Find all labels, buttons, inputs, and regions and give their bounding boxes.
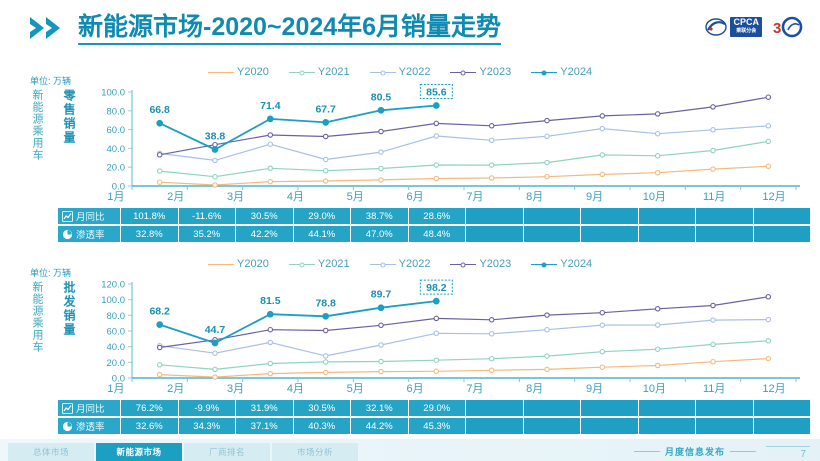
series-marker-y2021 bbox=[766, 339, 770, 343]
series-marker-y2022 bbox=[766, 317, 770, 321]
page-footer: 总体市场新能源市场厂商排名市场分析 月度信息发布 7 bbox=[0, 439, 820, 461]
series-marker-y2022 bbox=[600, 323, 604, 327]
series-marker-y2023 bbox=[379, 323, 383, 327]
table-cell bbox=[638, 208, 696, 224]
series-marker-y2022 bbox=[324, 157, 328, 161]
series-marker-y2022 bbox=[379, 343, 383, 347]
data-label-y2024: 98.2 bbox=[426, 282, 447, 294]
series-marker-y2020 bbox=[213, 375, 217, 379]
series-marker-y2020 bbox=[268, 179, 272, 183]
series-marker-y2020 bbox=[268, 371, 272, 375]
series-marker-y2021 bbox=[711, 342, 715, 346]
cpca-mark-icon bbox=[705, 17, 727, 37]
series-marker-y2022 bbox=[656, 323, 660, 327]
series-marker-y2022 bbox=[545, 134, 549, 138]
series-marker-y2020 bbox=[711, 167, 715, 171]
series-marker-y2024 bbox=[157, 120, 163, 126]
legend-retail: Y2020Y2021Y2022Y2023Y2024 bbox=[208, 66, 592, 78]
table-cell: 34.3% bbox=[178, 418, 236, 434]
series-line-y2023 bbox=[160, 297, 769, 348]
series-line-y2023 bbox=[160, 97, 769, 155]
series-marker-y2021 bbox=[434, 163, 438, 167]
table-cell bbox=[465, 226, 523, 242]
table-cell bbox=[753, 418, 811, 434]
legend-swatch-icon bbox=[289, 72, 315, 73]
series-marker-y2023 bbox=[268, 328, 272, 332]
series-marker-y2020 bbox=[711, 360, 715, 364]
series-marker-y2021 bbox=[379, 359, 383, 363]
cpca-abbr: CPCA bbox=[733, 17, 759, 27]
row-label: 渗透率 bbox=[58, 418, 120, 434]
series-marker-y2023 bbox=[600, 114, 604, 118]
series-marker-y2022 bbox=[213, 351, 217, 355]
series-marker-y2020 bbox=[545, 367, 549, 371]
series-marker-y2020 bbox=[379, 369, 383, 373]
row-label: 月同比 bbox=[58, 400, 120, 416]
table-cell bbox=[523, 418, 581, 434]
table-cell: 30.5% bbox=[293, 400, 351, 416]
series-marker-y2024 bbox=[378, 108, 384, 114]
table-cell bbox=[580, 208, 638, 224]
legend-swatch-icon bbox=[289, 264, 315, 265]
series-marker-y2022 bbox=[656, 132, 660, 136]
x-tick-label: 9月 bbox=[565, 188, 625, 204]
series-marker-y2021 bbox=[600, 350, 604, 354]
series-marker-y2023 bbox=[490, 318, 494, 322]
series-marker-y2021 bbox=[213, 175, 217, 179]
x-tick-label: 1月 bbox=[86, 188, 146, 204]
series-marker-y2022 bbox=[490, 332, 494, 336]
series-marker-y2021 bbox=[656, 347, 660, 351]
series-marker-y2020 bbox=[324, 179, 328, 183]
x-tick-label: 7月 bbox=[445, 188, 505, 204]
double-chevron-right-icon bbox=[28, 15, 72, 41]
series-marker-y2020 bbox=[656, 171, 660, 175]
series-marker-y2020 bbox=[600, 172, 604, 176]
trend-chart-icon bbox=[62, 403, 73, 414]
footer-tab-1[interactable]: 新能源市场 bbox=[96, 443, 182, 461]
x-tick-label: 2月 bbox=[146, 188, 206, 204]
series-line-y2021 bbox=[160, 341, 769, 370]
legend-item-y2020[interactable]: Y2020 bbox=[208, 258, 269, 270]
series-marker-y2024 bbox=[323, 314, 329, 320]
footer-tabs[interactable]: 总体市场新能源市场厂商排名市场分析 bbox=[8, 443, 360, 461]
series-marker-y2023 bbox=[490, 124, 494, 128]
table-cell: -11.6% bbox=[178, 208, 236, 224]
legend-marker-icon bbox=[299, 262, 304, 267]
data-label-y2024: 67.7 bbox=[315, 103, 336, 115]
series-marker-y2023 bbox=[324, 134, 328, 138]
x-tick-label: 3月 bbox=[206, 380, 266, 396]
series-marker-y2020 bbox=[490, 176, 494, 180]
series-marker-y2023 bbox=[545, 118, 549, 122]
table-cell: -9.9% bbox=[178, 400, 236, 416]
row-label-text: 渗透率 bbox=[76, 227, 105, 241]
series-marker-y2023 bbox=[268, 133, 272, 137]
series-marker-y2023 bbox=[434, 316, 438, 320]
top-category-label: 新能源乘用车 bbox=[30, 89, 43, 161]
table-cell: 32.1% bbox=[350, 400, 408, 416]
table-cell bbox=[695, 226, 753, 242]
table-cell: 28.6% bbox=[408, 208, 466, 224]
series-marker-y2020 bbox=[545, 175, 549, 179]
series-marker-y2024 bbox=[212, 340, 218, 346]
title-underline bbox=[78, 43, 501, 45]
series-marker-y2024 bbox=[268, 311, 274, 317]
x-tick-label: 10月 bbox=[624, 188, 684, 204]
footer-divider bbox=[766, 446, 810, 447]
table-row: 月同比76.2%-9.9%31.9%30.5%32.1%29.0% bbox=[58, 400, 810, 416]
svg-text:120.0: 120.0 bbox=[101, 280, 125, 291]
table-cell bbox=[753, 208, 811, 224]
footer-tab-3[interactable]: 市场分析 bbox=[272, 443, 358, 461]
table-cell: 35.2% bbox=[178, 226, 236, 242]
series-marker-y2022 bbox=[545, 328, 549, 332]
footer-tab-0[interactable]: 总体市场 bbox=[8, 443, 94, 461]
legend-swatch-icon bbox=[208, 264, 234, 265]
svg-text:40.0: 40.0 bbox=[107, 342, 126, 353]
x-tick-label: 4月 bbox=[265, 380, 325, 396]
page-number: 7 bbox=[800, 449, 806, 460]
trend-chart-icon bbox=[62, 211, 73, 222]
table-cell: 32.8% bbox=[120, 226, 178, 242]
table-row: 月同比101.8%-11.6%30.5%29.0%38.7%28.6% bbox=[58, 208, 810, 224]
series-marker-y2024 bbox=[378, 305, 384, 311]
x-tick-label: 2月 bbox=[146, 380, 206, 396]
table-cell: 30.5% bbox=[235, 208, 293, 224]
data-label-y2024: 78.8 bbox=[315, 297, 336, 309]
series-marker-y2021 bbox=[766, 139, 770, 143]
table-cell bbox=[580, 400, 638, 416]
legend-swatch-icon bbox=[531, 72, 557, 73]
series-line-y2022 bbox=[160, 126, 769, 161]
legend-marker-icon bbox=[461, 262, 466, 267]
series-marker-y2021 bbox=[711, 148, 715, 152]
table-cell: 44.1% bbox=[293, 226, 351, 242]
x-tick-label: 6月 bbox=[385, 380, 445, 396]
series-marker-y2021 bbox=[490, 163, 494, 167]
legend-item-y2022[interactable]: Y2022 bbox=[370, 258, 431, 270]
anniversary-logo: 3 bbox=[770, 16, 808, 38]
x-tick-label: 5月 bbox=[325, 380, 385, 396]
legend-swatch-icon bbox=[450, 264, 476, 265]
bottom-metric-label: 批发销量 bbox=[62, 281, 75, 337]
data-label-y2024: 81.5 bbox=[260, 295, 281, 307]
svg-text:100.0: 100.0 bbox=[101, 88, 125, 99]
series-marker-y2024 bbox=[268, 116, 274, 122]
legend-item-y2023[interactable]: Y2023 bbox=[450, 66, 511, 78]
svg-text:100.0: 100.0 bbox=[101, 295, 125, 306]
data-label-y2024: 85.6 bbox=[426, 87, 447, 99]
pie-chart-icon bbox=[62, 229, 73, 240]
table-cell: 42.2% bbox=[235, 226, 293, 242]
table-cell: 31.9% bbox=[235, 400, 293, 416]
series-marker-y2022 bbox=[490, 138, 494, 142]
series-marker-y2020 bbox=[324, 370, 328, 374]
legend-wholesale: Y2020Y2021Y2022Y2023Y2024 bbox=[208, 258, 592, 270]
series-line-y2024 bbox=[160, 301, 437, 343]
row-label-text: 月同比 bbox=[76, 209, 105, 223]
series-marker-y2024 bbox=[212, 147, 218, 153]
bottom-unit-label: 单位: 万辆 bbox=[30, 266, 71, 279]
table-cell: 47.0% bbox=[350, 226, 408, 242]
footer-tab-2[interactable]: 厂商排名 bbox=[184, 443, 270, 461]
table-cell bbox=[638, 400, 696, 416]
wholesale-sales-panel: 单位: 万辆 新能源乘用车 批发销量 Y2020Y2021Y2022Y2023Y… bbox=[0, 252, 820, 442]
series-marker-y2023 bbox=[711, 303, 715, 307]
table-cell: 101.8% bbox=[120, 208, 178, 224]
svg-text:60.0: 60.0 bbox=[107, 125, 126, 136]
x-tick-label: 8月 bbox=[505, 380, 565, 396]
series-marker-y2023 bbox=[600, 311, 604, 315]
data-label-y2024: 89.7 bbox=[371, 289, 392, 301]
legend-item-y2021[interactable]: Y2021 bbox=[289, 258, 350, 270]
svg-text:80.0: 80.0 bbox=[107, 106, 126, 117]
data-label-y2024: 44.7 bbox=[205, 324, 226, 336]
svg-text:80.0: 80.0 bbox=[107, 311, 126, 322]
legend-swatch-icon bbox=[370, 264, 396, 265]
x-tick-label: 6月 bbox=[385, 188, 445, 204]
table-cell bbox=[753, 226, 811, 242]
series-marker-y2023 bbox=[766, 95, 770, 99]
x-tick-label: 5月 bbox=[325, 188, 385, 204]
series-marker-y2021 bbox=[158, 363, 162, 367]
data-label-y2024: 71.4 bbox=[260, 100, 281, 112]
series-marker-y2022 bbox=[600, 126, 604, 130]
series-marker-y2022 bbox=[434, 331, 438, 335]
legend-label: Y2023 bbox=[479, 66, 511, 78]
x-tick-label: 3月 bbox=[206, 188, 266, 204]
series-marker-y2020 bbox=[434, 369, 438, 373]
series-marker-y2023 bbox=[711, 105, 715, 109]
series-marker-y2021 bbox=[158, 169, 162, 173]
row-label: 渗透率 bbox=[58, 226, 120, 242]
table-cell bbox=[695, 418, 753, 434]
series-marker-y2021 bbox=[600, 153, 604, 157]
table-cell: 44.2% bbox=[350, 418, 408, 434]
cpca-chinese: 乘联分会 bbox=[733, 27, 759, 36]
series-marker-y2022 bbox=[711, 318, 715, 322]
series-marker-y2022 bbox=[268, 142, 272, 146]
table-row: 渗透率32.8%35.2%42.2%44.1%47.0%48.4% bbox=[58, 226, 810, 242]
retail-x-axis-labels: 1月2月3月4月5月6月7月8月9月10月11月12月 bbox=[86, 188, 804, 204]
legend-marker-icon bbox=[542, 70, 547, 75]
series-marker-y2024 bbox=[434, 103, 440, 109]
legend-marker-icon bbox=[542, 262, 547, 267]
bottom-category-label: 新能源乘用车 bbox=[30, 281, 43, 353]
legend-swatch-icon bbox=[370, 72, 396, 73]
legend-swatch-icon bbox=[531, 264, 557, 265]
series-marker-y2020 bbox=[213, 183, 217, 187]
table-cell bbox=[753, 400, 811, 416]
table-cell bbox=[465, 208, 523, 224]
x-tick-label: 9月 bbox=[565, 380, 625, 396]
series-marker-y2022 bbox=[268, 340, 272, 344]
wholesale-data-table: 月同比76.2%-9.9%31.9%30.5%32.1%29.0%渗透率32.6… bbox=[58, 400, 810, 436]
series-line-y2024 bbox=[160, 106, 437, 150]
legend-item-y2024[interactable]: Y2024 bbox=[531, 66, 592, 78]
x-tick-label: 1月 bbox=[86, 380, 146, 396]
row-label: 月同比 bbox=[58, 208, 120, 224]
x-tick-label: 12月 bbox=[744, 188, 804, 204]
legend-swatch-icon bbox=[208, 72, 234, 73]
retail-data-table: 月同比101.8%-11.6%30.5%29.0%38.7%28.6%渗透率32… bbox=[58, 208, 810, 244]
retail-sales-panel: 单位: 万辆 新能源乘用车 零售销量 Y2020Y2021Y2022Y2023Y… bbox=[0, 56, 820, 254]
series-marker-y2020 bbox=[434, 176, 438, 180]
svg-text:20.0: 20.0 bbox=[107, 358, 126, 369]
legend-marker-icon bbox=[299, 70, 304, 75]
table-cell: 37.1% bbox=[235, 418, 293, 434]
legend-item-y2024[interactable]: Y2024 bbox=[531, 258, 592, 270]
cpca-logo: CPCA 乘联分会 bbox=[705, 17, 762, 37]
table-cell bbox=[638, 418, 696, 434]
series-marker-y2021 bbox=[379, 166, 383, 170]
table-cell bbox=[523, 226, 581, 242]
series-line-y2020 bbox=[160, 359, 769, 378]
table-cell: 48.4% bbox=[408, 226, 466, 242]
series-marker-y2020 bbox=[379, 178, 383, 182]
table-cell: 76.2% bbox=[120, 400, 178, 416]
svg-text:40.0: 40.0 bbox=[107, 144, 126, 155]
data-label-y2024: 66.8 bbox=[149, 104, 170, 116]
series-marker-y2023 bbox=[656, 112, 660, 116]
table-cell bbox=[695, 400, 753, 416]
series-marker-y2022 bbox=[324, 354, 328, 358]
legend-label: Y2024 bbox=[560, 258, 592, 270]
legend-item-y2023[interactable]: Y2023 bbox=[450, 258, 511, 270]
page-title-wrap: 新能源市场-2020~2024年6月销量走势 bbox=[78, 12, 501, 45]
table-cell bbox=[465, 400, 523, 416]
legend-label: Y2020 bbox=[237, 258, 269, 270]
series-marker-y2021 bbox=[490, 357, 494, 361]
logo-group: CPCA 乘联分会 3 bbox=[705, 16, 808, 38]
page-header: 新能源市场-2020~2024年6月销量走势 CPCA 乘联分会 3 bbox=[0, 0, 820, 52]
pie-chart-icon bbox=[62, 421, 73, 432]
legend-marker-icon bbox=[380, 262, 385, 267]
legend-label: Y2021 bbox=[318, 66, 350, 78]
svg-text:20.0: 20.0 bbox=[107, 163, 126, 174]
x-tick-label: 10月 bbox=[624, 380, 684, 396]
legend-label: Y2024 bbox=[560, 66, 592, 78]
legend-label: Y2020 bbox=[237, 66, 269, 78]
footer-label: 月度信息发布 bbox=[665, 445, 725, 458]
series-marker-y2022 bbox=[213, 158, 217, 162]
series-marker-y2021 bbox=[434, 358, 438, 362]
series-marker-y2023 bbox=[158, 153, 162, 157]
legend-label: Y2021 bbox=[318, 258, 350, 270]
series-marker-y2021 bbox=[268, 361, 272, 365]
x-tick-label: 11月 bbox=[684, 188, 744, 204]
svg-text:60.0: 60.0 bbox=[107, 327, 126, 338]
series-marker-y2021 bbox=[656, 154, 660, 158]
legend-marker-icon bbox=[380, 70, 385, 75]
table-cell bbox=[580, 418, 638, 434]
series-marker-y2024 bbox=[157, 322, 163, 328]
table-cell: 45.3% bbox=[408, 418, 466, 434]
svg-text:3: 3 bbox=[773, 20, 781, 37]
table-cell bbox=[523, 400, 581, 416]
series-marker-y2021 bbox=[213, 367, 217, 371]
series-marker-y2020 bbox=[490, 368, 494, 372]
series-marker-y2023 bbox=[324, 328, 328, 332]
series-marker-y2022 bbox=[766, 124, 770, 128]
series-marker-y2020 bbox=[158, 180, 162, 184]
legend-label: Y2023 bbox=[479, 258, 511, 270]
series-marker-y2021 bbox=[324, 169, 328, 173]
x-tick-label: 8月 bbox=[505, 188, 565, 204]
wholesale-x-axis-labels: 1月2月3月4月5月6月7月8月9月10月11月12月 bbox=[86, 380, 804, 396]
table-cell: 38.7% bbox=[350, 208, 408, 224]
cpca-wordmark: CPCA 乘联分会 bbox=[730, 17, 762, 37]
top-unit-label: 单位: 万辆 bbox=[30, 74, 71, 87]
table-cell: 32.6% bbox=[120, 418, 178, 434]
series-marker-y2020 bbox=[656, 363, 660, 367]
data-label-y2024: 38.8 bbox=[205, 131, 226, 143]
table-cell bbox=[580, 226, 638, 242]
series-marker-y2022 bbox=[379, 150, 383, 154]
series-marker-y2021 bbox=[545, 354, 549, 358]
table-cell bbox=[523, 208, 581, 224]
series-line-y2020 bbox=[160, 166, 769, 185]
legend-item-y2022[interactable]: Y2022 bbox=[370, 66, 431, 78]
series-marker-y2023 bbox=[434, 121, 438, 125]
row-label-text: 渗透率 bbox=[76, 419, 105, 433]
x-tick-label: 11月 bbox=[684, 380, 744, 396]
legend-swatch-icon bbox=[450, 72, 476, 73]
row-label-text: 月同比 bbox=[76, 401, 105, 415]
series-marker-y2024 bbox=[434, 298, 440, 304]
series-marker-y2020 bbox=[766, 356, 770, 360]
series-marker-y2023 bbox=[158, 345, 162, 349]
table-cell: 40.3% bbox=[293, 418, 351, 434]
x-tick-label: 12月 bbox=[744, 380, 804, 396]
series-marker-y2024 bbox=[323, 120, 329, 126]
series-marker-y2023 bbox=[766, 295, 770, 299]
table-cell bbox=[465, 418, 523, 434]
legend-item-y2020[interactable]: Y2020 bbox=[208, 66, 269, 78]
series-marker-y2021 bbox=[324, 360, 328, 364]
table-row: 渗透率32.6%34.3%37.1%40.3%44.2%45.3% bbox=[58, 418, 810, 434]
series-marker-y2022 bbox=[434, 134, 438, 138]
series-marker-y2023 bbox=[545, 313, 549, 317]
footer-rule-left bbox=[634, 451, 660, 452]
footer-center-text: 月度信息发布 bbox=[634, 445, 756, 458]
top-metric-label: 零售销量 bbox=[62, 89, 75, 145]
series-marker-y2023 bbox=[379, 129, 383, 133]
legend-marker-icon bbox=[461, 70, 466, 75]
series-marker-y2023 bbox=[656, 307, 660, 311]
x-tick-label: 4月 bbox=[265, 188, 325, 204]
table-cell bbox=[695, 208, 753, 224]
x-tick-label: 7月 bbox=[445, 380, 505, 396]
table-cell: 29.0% bbox=[408, 400, 466, 416]
table-cell bbox=[638, 226, 696, 242]
series-marker-y2020 bbox=[766, 164, 770, 168]
legend-item-y2021[interactable]: Y2021 bbox=[289, 66, 350, 78]
data-label-y2024: 80.5 bbox=[371, 91, 392, 103]
data-label-y2024: 68.2 bbox=[149, 306, 170, 318]
series-marker-y2022 bbox=[711, 128, 715, 132]
page-title: 新能源市场-2020~2024年6月销量走势 bbox=[78, 12, 501, 42]
legend-label: Y2022 bbox=[399, 66, 431, 78]
series-marker-y2021 bbox=[545, 160, 549, 164]
table-cell: 29.0% bbox=[293, 208, 351, 224]
legend-label: Y2022 bbox=[399, 258, 431, 270]
series-marker-y2020 bbox=[158, 372, 162, 376]
series-marker-y2021 bbox=[268, 166, 272, 170]
series-marker-y2020 bbox=[600, 365, 604, 369]
footer-rule-right bbox=[730, 451, 756, 452]
